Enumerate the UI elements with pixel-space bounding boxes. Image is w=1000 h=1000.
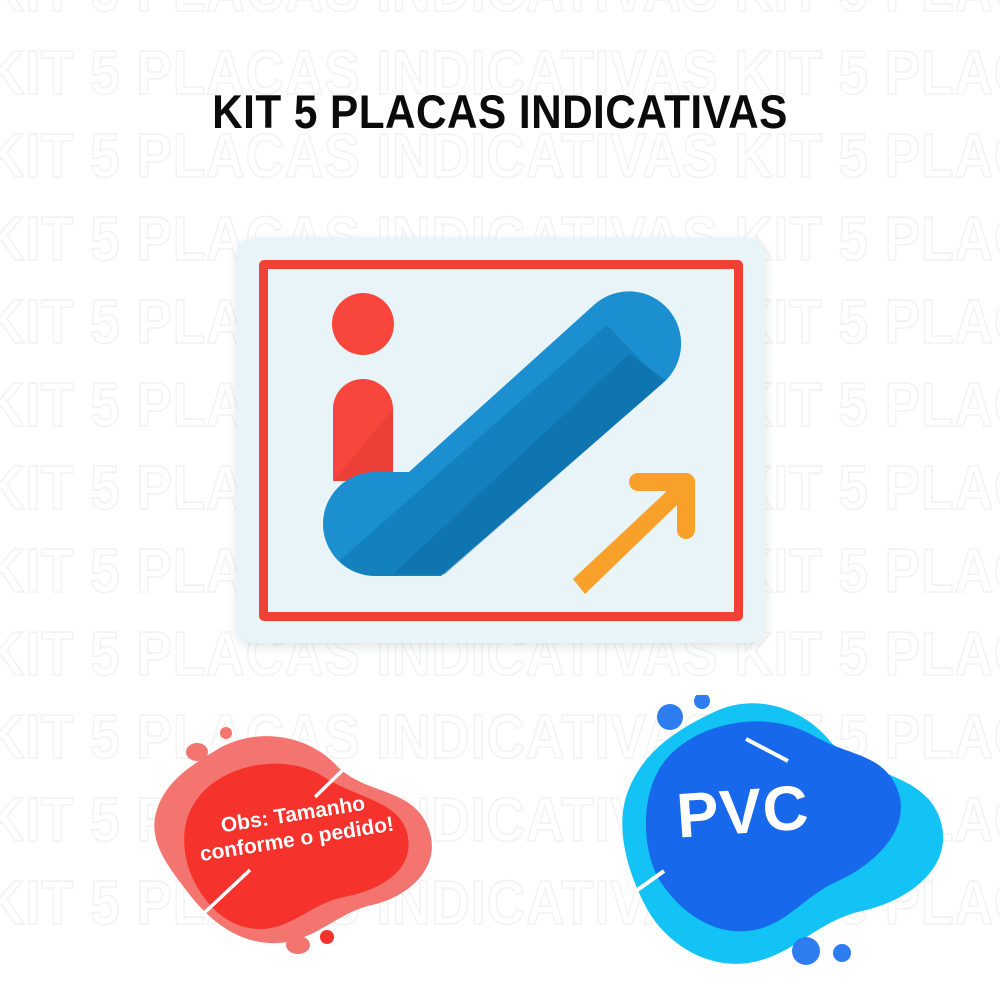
page-title: KIT 5 PLACAS INDICATIVAS [50, 84, 950, 139]
person-head-icon [332, 293, 394, 355]
arrow-up-right-icon [573, 473, 695, 594]
material-badge: PVC [608, 695, 953, 970]
material-dot-bottom-small [833, 944, 851, 962]
watermark-row: KIT 5 PLACAS INDICATIVAS KIT 5 PLACAS IN… [0, 0, 1000, 22]
material-dot-top-large [657, 704, 683, 730]
note-dot-bottom-small [320, 930, 334, 944]
note-dot-bottom-large [286, 936, 310, 954]
material-dot-top-small [694, 695, 710, 709]
product-image-canvas: KIT 5 PLACAS INDICATIVAS KIT 5 PLACAS IN… [0, 0, 1000, 1000]
sign-plate [237, 238, 765, 643]
material-dot-bottom-large [792, 937, 820, 965]
note-dot-small [220, 727, 232, 739]
material-badge-blob [608, 695, 953, 970]
note-badge-blob [140, 715, 450, 960]
note-dot-large [186, 743, 208, 761]
note-badge: Obs: Tamanho conforme o pedido! [140, 715, 450, 960]
escalator-up-icon [277, 276, 725, 606]
